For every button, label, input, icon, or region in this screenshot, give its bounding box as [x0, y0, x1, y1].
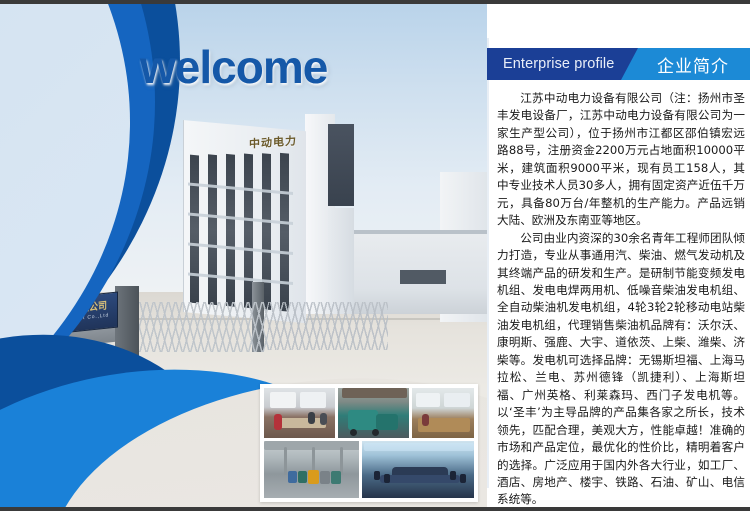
enterprise-profile-banner: 中动电力 江苏中动电力设备有限公司 Zhongdong Power Equipm…: [0, 0, 750, 511]
section-header-ribbon: Enterprise profile 企业简介: [487, 48, 750, 80]
retractable-gate-right: [268, 302, 388, 350]
ribbon-chinese-label: 企业简介: [621, 48, 750, 80]
conference-hall-photo: [361, 440, 475, 499]
panel-left-accent: [487, 38, 489, 488]
ribbon-english-label: Enterprise profile: [487, 48, 621, 80]
building-rooftop-sign: 中动电力: [249, 132, 297, 151]
hero-image-panel: 中动电力 江苏中动电力设备有限公司 Zhongdong Power Equipm…: [0, 2, 487, 509]
welcome-heading: welcome: [140, 40, 327, 94]
profile-text-panel: Enterprise profile 企业简介 江苏中动电力设备有限公司（注：扬…: [487, 2, 750, 509]
photo-collage: [260, 384, 478, 502]
wing-window-band: [400, 270, 446, 284]
bottom-edge-line: [0, 507, 750, 509]
top-edge-line: [0, 2, 750, 4]
meeting-room-photo: [263, 387, 336, 439]
generator-set-photo: [337, 387, 410, 439]
workshop-line-photo: [263, 440, 360, 499]
open-office-photo: [411, 387, 475, 439]
tower-glass-panel: [328, 124, 354, 206]
profile-body-copy: 江苏中动电力设备有限公司（注：扬州市圣丰发电设备厂，江苏中动电力设备有限公司为一…: [497, 90, 745, 509]
profile-paragraph-2: 公司由业内资深的30余名青年工程师团队倾力打造，专业从事通用汽、柴油、燃气发动机…: [497, 230, 745, 509]
retractable-gate-left: [138, 302, 268, 352]
tower-lower-panel: [328, 208, 354, 314]
profile-paragraph-1: 江苏中动电力设备有限公司（注：扬州市圣丰发电设备厂，江苏中动电力设备有限公司为一…: [497, 90, 745, 230]
main-office-building: [183, 120, 306, 323]
